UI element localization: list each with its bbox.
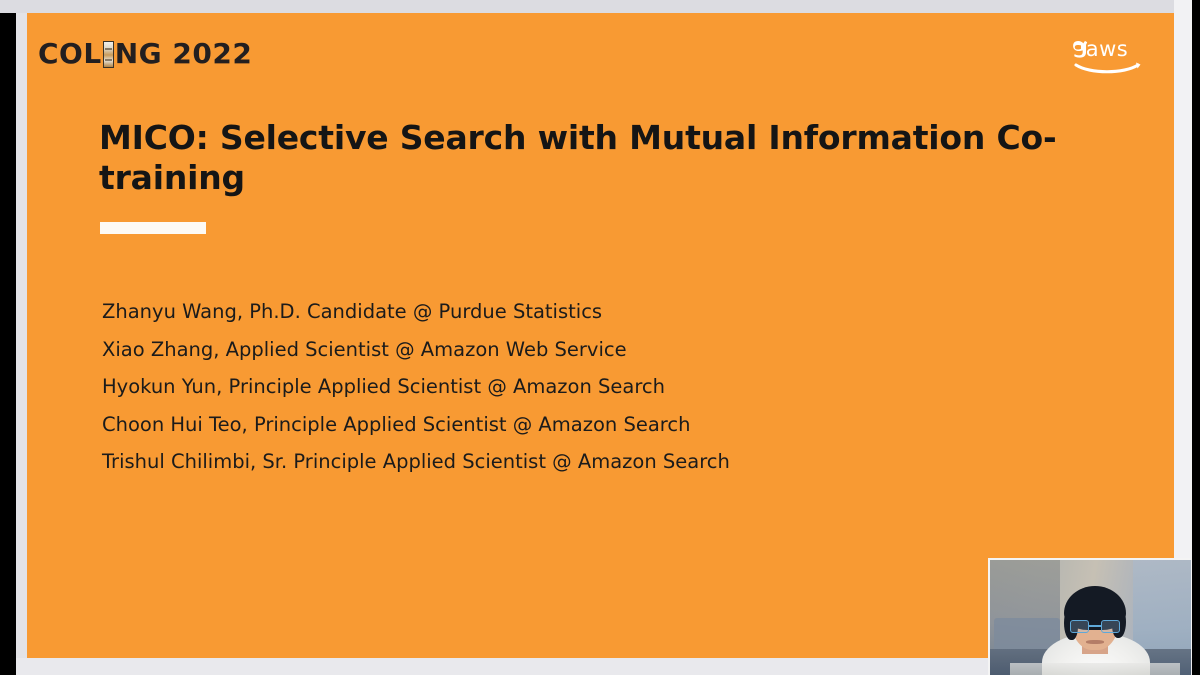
webcam-keyboard bbox=[1010, 663, 1180, 675]
player-letterbox-left bbox=[0, 0, 16, 675]
window-chrome-left bbox=[16, 0, 27, 675]
coling-logo-prefix: COL bbox=[38, 40, 102, 68]
slide-title: MICO: Selective Search with Mutual Infor… bbox=[99, 118, 1139, 197]
presenter-webcam-overlay[interactable] bbox=[988, 558, 1191, 675]
glasses-lens-right bbox=[1101, 620, 1120, 633]
author-line: Xiao Zhang, Applied Scientist @ Amazon W… bbox=[102, 331, 1102, 369]
coling-pillar-icon bbox=[103, 41, 114, 68]
svg-text:aws: aws bbox=[1086, 37, 1129, 61]
author-line: Zhanyu Wang, Ph.D. Candidate @ Purdue St… bbox=[102, 293, 1102, 331]
glasses-lens-left bbox=[1070, 620, 1089, 633]
aws-logo: aws bbox=[1068, 35, 1146, 77]
coling-conference-logo: COL NG 2022 bbox=[38, 40, 252, 68]
author-list: Zhanyu Wang, Ph.D. Candidate @ Purdue St… bbox=[102, 293, 1102, 481]
window-chrome-top bbox=[0, 0, 1200, 13]
player-letterbox-right bbox=[1192, 0, 1200, 675]
glasses-bridge bbox=[1089, 625, 1101, 627]
author-line: Choon Hui Teo, Principle Applied Scienti… bbox=[102, 406, 1102, 444]
webcam-person-mouth bbox=[1086, 640, 1104, 644]
author-line: Trishul Chilimbi, Sr. Principle Applied … bbox=[102, 443, 1102, 481]
coling-logo-suffix: NG 2022 bbox=[115, 40, 253, 68]
webcam-person-glasses bbox=[1070, 620, 1120, 633]
video-player: COL NG 2022 aws MICO: Selective Search w… bbox=[0, 0, 1200, 675]
author-line: Hyokun Yun, Principle Applied Scientist … bbox=[102, 368, 1102, 406]
title-divider-rule bbox=[100, 222, 206, 234]
